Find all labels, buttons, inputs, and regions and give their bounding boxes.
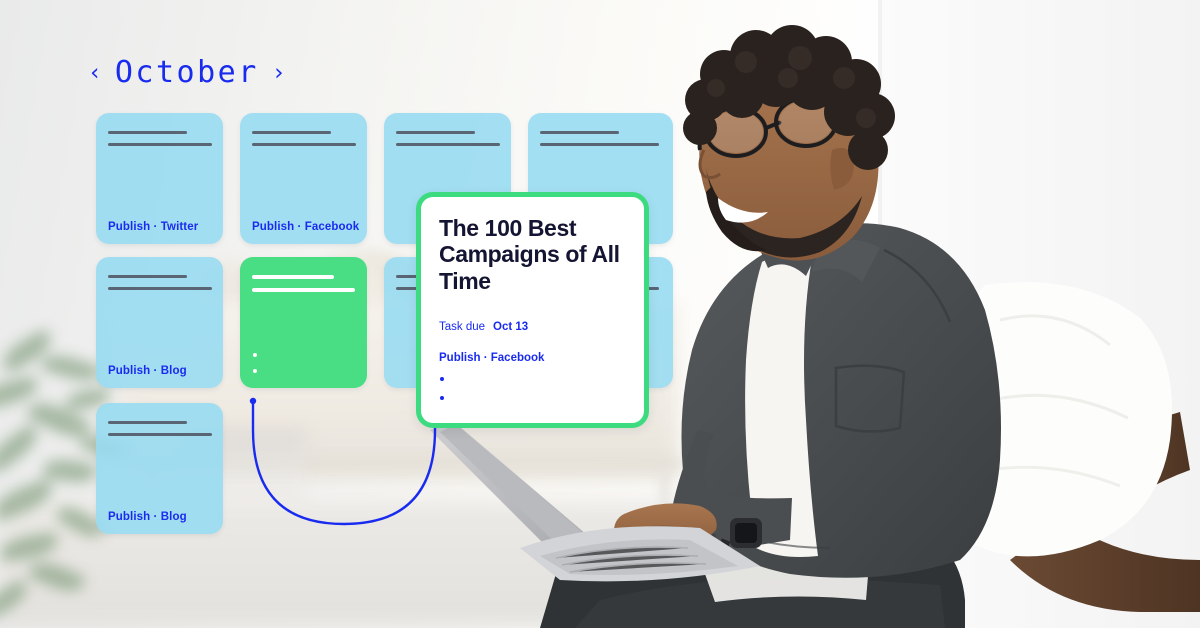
calendar-card-selected[interactable] [240, 257, 367, 388]
card-bullet-dot [253, 369, 257, 373]
card-label: Publish · Facebook [252, 221, 359, 233]
placeholder-line [108, 421, 187, 424]
placeholder-line [252, 143, 356, 146]
next-month-arrow-icon[interactable]: › [272, 62, 286, 85]
task-due-date: Oct 13 [493, 321, 528, 333]
placeholder-line [108, 433, 212, 436]
task-bullet-dot [440, 396, 444, 400]
promo-graphic-canvas: ‹ October › Publish · Twitter Publish · … [0, 0, 1200, 628]
placeholder-line [540, 131, 619, 134]
task-due-row: Task dueOct 13 [439, 321, 528, 333]
month-navigation: ‹ October › [88, 58, 286, 88]
task-bullet-dot [440, 377, 444, 381]
placeholder-line [540, 143, 659, 146]
placeholder-line [252, 131, 331, 134]
calendar-overlay: ‹ October › Publish · Twitter Publish · … [0, 0, 720, 628]
calendar-card[interactable]: Publish · Blog [96, 257, 223, 388]
task-title: The 100 Best Campaigns of All Time [439, 215, 635, 294]
month-label: October [115, 58, 259, 88]
card-label: Publish · Twitter [108, 221, 198, 233]
placeholder-line [108, 143, 212, 146]
placeholder-line [396, 131, 475, 134]
task-detail-popup[interactable]: The 100 Best Campaigns of All Time Task … [416, 192, 649, 428]
placeholder-line [396, 143, 500, 146]
card-label: Publish · Blog [108, 365, 187, 377]
placeholder-line [108, 275, 187, 278]
calendar-card[interactable]: Publish · Blog [96, 403, 223, 534]
placeholder-line [252, 275, 334, 279]
card-label: Publish · Blog [108, 511, 187, 523]
placeholder-line [108, 287, 212, 290]
calendar-card[interactable]: Publish · Twitter [96, 113, 223, 244]
card-bullet-dot [253, 353, 257, 357]
placeholder-line [108, 131, 187, 134]
task-channel: Publish · Facebook [439, 352, 544, 364]
prev-month-arrow-icon[interactable]: ‹ [88, 62, 102, 85]
placeholder-line [252, 288, 355, 292]
calendar-card[interactable]: Publish · Facebook [240, 113, 367, 244]
connector-dot-start [250, 398, 256, 404]
task-due-label: Task due [439, 321, 485, 333]
